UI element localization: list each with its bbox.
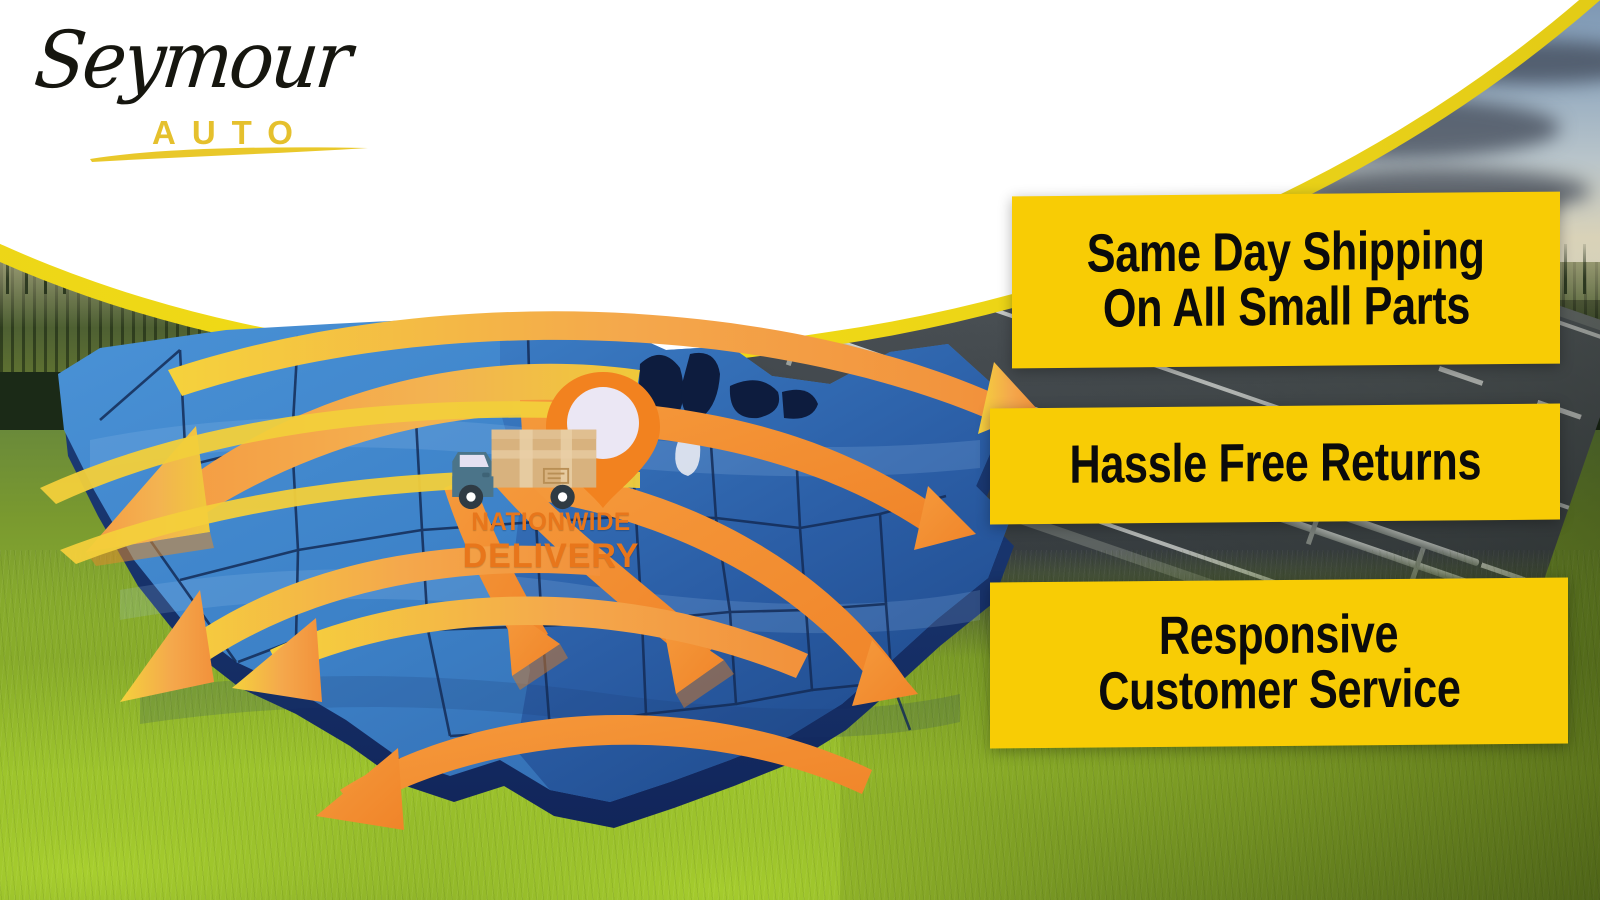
callout-line: Same Day Shipping xyxy=(1087,223,1485,282)
badge-caption-line2: DELIVERY xyxy=(426,539,676,573)
badge-caption-line1: NATIONWIDE xyxy=(430,510,673,535)
callout-line: Responsive xyxy=(1159,607,1398,664)
brand-logo[interactable]: Seymour AUTO xyxy=(34,18,344,168)
callout-same-day-shipping[interactable]: Same Day Shipping On All Small Parts xyxy=(1012,192,1560,369)
nationwide-delivery-badge: NATIONWIDE DELIVERY xyxy=(448,372,658,582)
callout-line: Customer Service xyxy=(1098,661,1460,719)
callout-line: Hassle Free Returns xyxy=(1069,435,1481,494)
callout-line: On All Small Parts xyxy=(1102,278,1469,336)
logo-swoosh-icon xyxy=(88,146,370,162)
delivery-truck-icon xyxy=(448,424,608,510)
badge-caption: NATIONWIDE DELIVERY xyxy=(426,510,676,573)
promo-banner: NATIONWIDE DELIVERY Seymour AUTO Same Da… xyxy=(0,0,1600,900)
callout-hassle-free-returns[interactable]: Hassle Free Returns xyxy=(990,404,1560,525)
arrow-bottom-arc xyxy=(316,715,872,830)
callout-responsive-customer-service[interactable]: Responsive Customer Service xyxy=(990,577,1568,748)
